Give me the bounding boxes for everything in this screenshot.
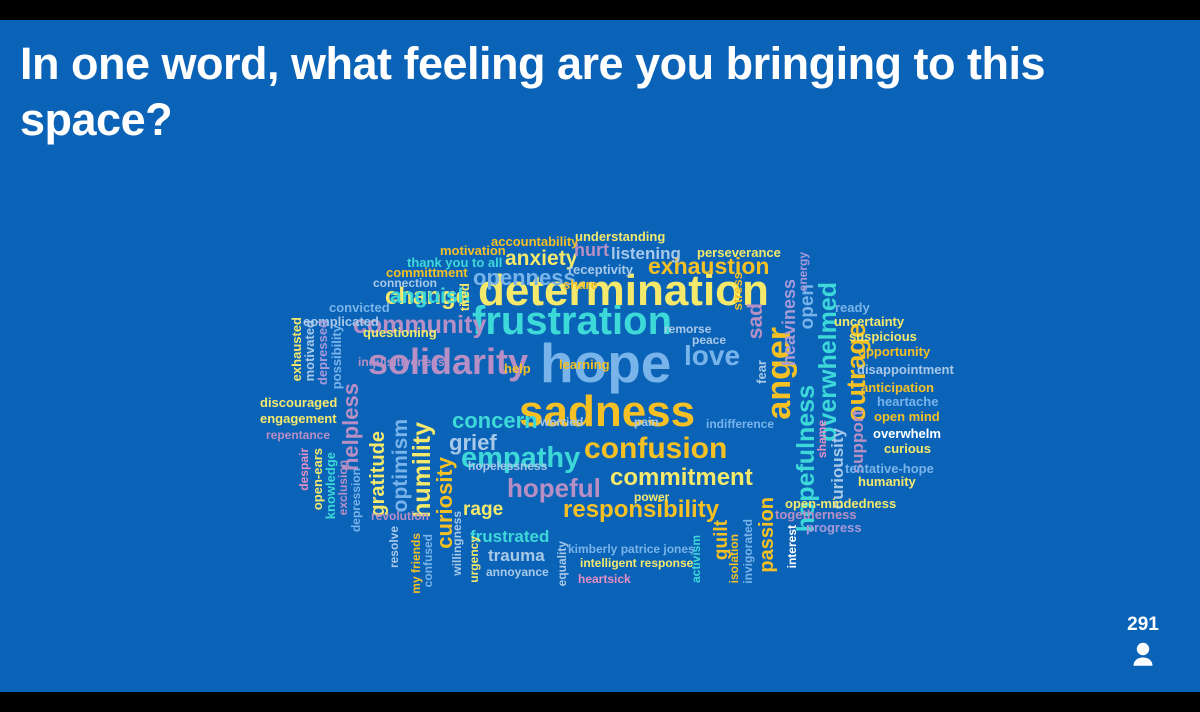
word-cloud-item: interest [786, 525, 798, 568]
word-cloud-item: possibility [330, 325, 343, 389]
word-cloud-item: discouraged [260, 396, 337, 409]
word-cloud-item: optimism [390, 419, 411, 512]
word-cloud-item: fear [755, 360, 768, 384]
word-cloud-item: energy [797, 252, 809, 291]
word-cloud-item: grief [449, 432, 497, 454]
word-cloud-item: heartache [877, 395, 938, 408]
word-cloud-item: stress [731, 272, 744, 310]
word-cloud-item: overwhelm [873, 427, 941, 440]
word-cloud-item: revolution [371, 510, 429, 522]
word-cloud-item: openness [473, 267, 576, 289]
word-cloud-item: perseverance [697, 246, 781, 259]
word-cloud-item: activism [690, 535, 702, 583]
word-cloud-item: uncertainty [834, 315, 904, 328]
word-cloud-item: inquisitiveness [358, 356, 445, 368]
word-cloud-item: willingness [451, 511, 463, 576]
word-cloud-item: suspicious [849, 330, 917, 343]
word-cloud-item: sad [745, 303, 766, 339]
word-cloud-item: pain [634, 416, 659, 428]
word-cloud-item: power [634, 491, 669, 503]
slide-stage: In one word, what feeling are you bringi… [0, 0, 1200, 712]
word-cloud-item: equality [556, 541, 568, 586]
word-cloud-item: shame [816, 420, 828, 458]
word-cloud-item: connection [373, 277, 437, 289]
person-icon [1128, 640, 1158, 670]
word-cloud-item: questioning [363, 326, 437, 339]
word-cloud-item: hopeful [507, 475, 601, 501]
word-cloud-item: hopelessness [468, 460, 547, 472]
word-cloud-item: humanity [858, 475, 916, 488]
word-cloud-item: progress [806, 521, 862, 534]
word-cloud-item: frustrated [470, 528, 549, 545]
word-cloud-item: indifference [706, 418, 774, 430]
word-cloud-item: helpless [340, 383, 362, 471]
participant-counter: 291 [1108, 615, 1178, 670]
word-cloud-item: exclusion [337, 460, 349, 515]
word-cloud-item: learning [559, 358, 610, 371]
word-cloud-item: open mind [874, 410, 940, 423]
word-cloud-item: tired [458, 283, 471, 311]
word-cloud-item: isolation [728, 534, 740, 583]
word-cloud-item: listening [611, 245, 681, 262]
letterbox-bar-top [0, 0, 1200, 20]
word-cloud-item: ready [835, 301, 870, 314]
word-cloud-item: confusion [584, 434, 727, 464]
letterbox-bar-bottom [0, 692, 1200, 712]
word-cloud-item: intelligent response [580, 557, 693, 569]
word-cloud-item: curious [884, 442, 931, 455]
word-cloud-item: heaviness [780, 279, 798, 366]
presentation-slide: In one word, what feeling are you bringi… [0, 20, 1200, 692]
word-cloud-item: annoyance [486, 566, 549, 578]
word-cloud-item: understanding [575, 230, 665, 243]
word-cloud-item: confused [422, 534, 434, 587]
word-cloud-item: anticipation [861, 381, 934, 394]
word-cloud-item: gratitude [368, 431, 388, 517]
word-cloud-item: disappointment [857, 363, 954, 376]
word-cloud-item: share [563, 278, 598, 291]
word-cloud-item: concern [452, 410, 538, 432]
word-cloud-item: passion [757, 497, 777, 573]
word-cloud-item: convicted [329, 301, 390, 314]
word-cloud-item: kimberly patrice jones [568, 543, 695, 555]
word-cloud-item: despair [298, 448, 310, 491]
word-cloud-item: rage [463, 500, 503, 519]
word-cloud-item: commitment [610, 466, 753, 490]
word-cloud-item: receptivity [568, 263, 633, 276]
word-cloud-item: invigorated [742, 519, 754, 584]
word-cloud: determinationfrustrationhopesadnesssolid… [0, 20, 1200, 692]
word-cloud-item: worried [540, 416, 583, 428]
word-cloud-item: urgency [468, 536, 480, 583]
word-cloud-item: depression [350, 468, 362, 532]
word-cloud-item: trauma [488, 547, 545, 564]
word-cloud-item: engagement [260, 412, 337, 425]
word-cloud-item: resolve [388, 526, 400, 568]
participant-count-label: 291 [1108, 615, 1178, 636]
word-cloud-item: heartsick [578, 573, 631, 585]
word-cloud-item: repentance [266, 429, 330, 441]
word-cloud-item: opportunity [858, 345, 930, 358]
word-cloud-item: depressed [316, 320, 329, 385]
word-cloud-item: peace [692, 334, 726, 346]
word-cloud-item: help [504, 362, 531, 375]
